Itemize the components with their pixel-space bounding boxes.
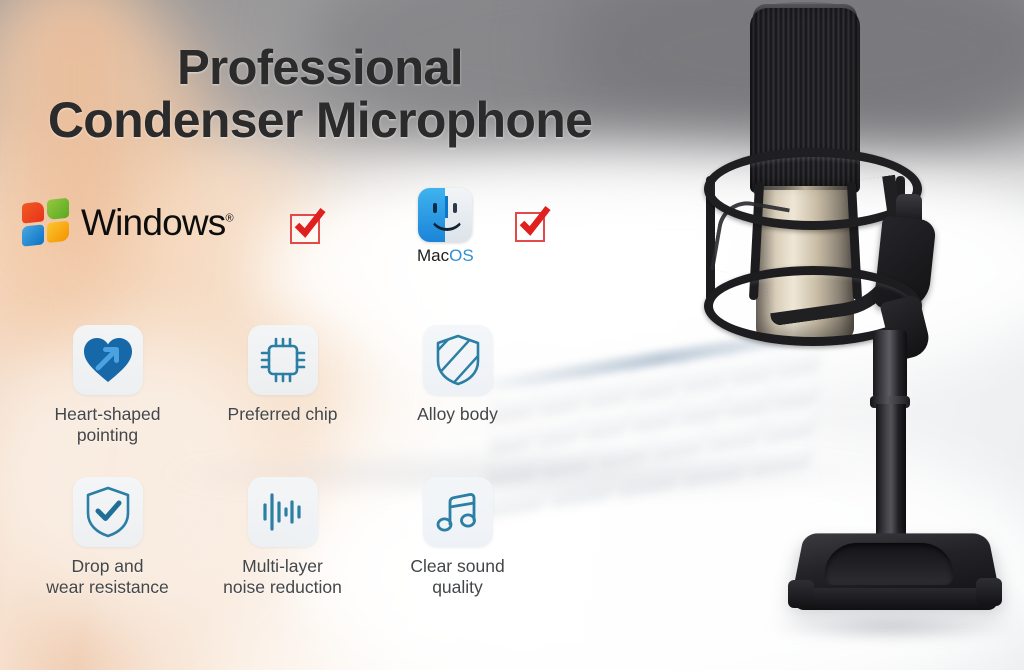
feature-icon-tile: [423, 477, 493, 547]
product-banner: Professional Condenser Microphone Window…: [0, 0, 1024, 670]
title-line-1: Professional: [0, 42, 640, 94]
check-mark-icon: [292, 208, 326, 240]
macos-compat-item: MacOS: [417, 188, 474, 266]
feature-icon-tile: [248, 477, 318, 547]
feature-grid: Heart-shapedpointing: [20, 325, 580, 598]
feature-row-2: Drop andwear resistance: [20, 477, 580, 599]
windows-check-icon: [290, 214, 320, 244]
base-front-edge: [794, 588, 998, 610]
feature-label: Heart-shapedpointing: [54, 404, 160, 447]
check-mark-icon: [517, 206, 551, 238]
windows-compat-item: Windows®: [22, 200, 233, 246]
feature-alloy-body: Alloy body: [370, 325, 545, 447]
feature-row-1: Heart-shapedpointing: [20, 325, 580, 447]
sound-wave-icon: [259, 488, 307, 536]
windows-logo-icon: [22, 197, 72, 248]
feature-label: Preferred chip: [228, 404, 338, 425]
feature-preferred-chip: Preferred chip: [195, 325, 370, 447]
stand-pole-upper: [873, 330, 907, 400]
macos-check-icon: [515, 212, 545, 242]
windows-trademark: ®: [226, 213, 233, 225]
windows-label: Windows®: [81, 202, 233, 244]
feature-icon-tile: [73, 325, 143, 395]
feature-label: Alloy body: [417, 404, 498, 425]
base-left-lip: [788, 580, 814, 608]
page-title: Professional Condenser Microphone: [0, 42, 640, 148]
product-image-microphone: [690, 0, 1000, 670]
striped-shield-icon: [435, 334, 481, 386]
feature-icon-tile: [73, 477, 143, 547]
feature-icon-tile: [248, 325, 318, 395]
feature-heart-shaped-pointing: Heart-shapedpointing: [20, 325, 195, 447]
feature-icon-tile: [423, 325, 493, 395]
stand-base: [788, 528, 1002, 636]
feature-multi-layer-noise-reduction: Multi-layernoise reduction: [195, 477, 370, 599]
feature-label: Clear soundquality: [410, 556, 504, 599]
base-recessed-tray: [823, 543, 955, 585]
base-right-lip: [976, 578, 1002, 606]
cpu-chip-icon: [258, 335, 308, 385]
music-note-icon: [434, 488, 482, 536]
feature-label: Multi-layernoise reduction: [223, 556, 342, 599]
feature-drop-and-wear-resistance: Drop andwear resistance: [20, 477, 195, 599]
feature-label: Drop andwear resistance: [46, 556, 169, 599]
macos-label: MacOS: [417, 246, 474, 266]
macos-finder-icon: [418, 188, 472, 242]
heart-arrow-icon: [82, 336, 134, 384]
title-line-2: Condenser Microphone: [0, 94, 640, 148]
shield-check-icon: [85, 486, 131, 538]
shock-mount-cage: [700, 148, 920, 343]
feature-clear-sound-quality: Clear soundquality: [370, 477, 545, 599]
